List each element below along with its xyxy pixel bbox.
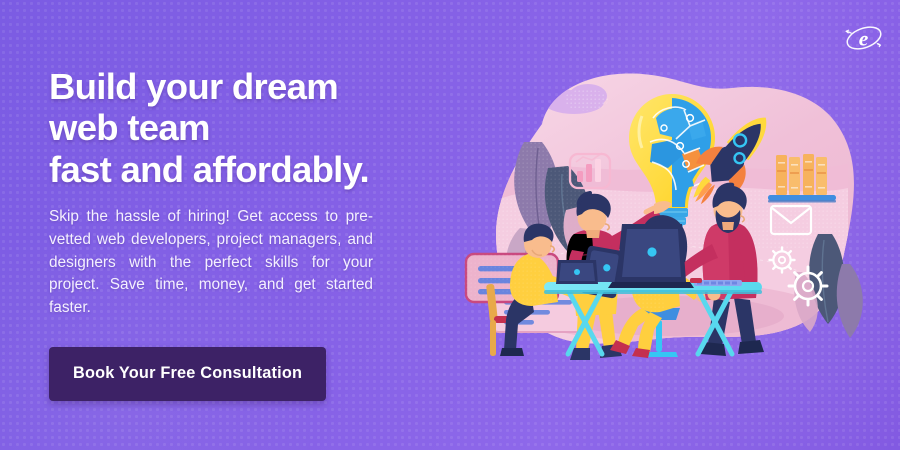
brand-logo-e-icon[interactable]: e: [844, 18, 884, 58]
book-consultation-button[interactable]: Book Your Free Consultation: [49, 347, 326, 401]
leaf-muted-purple-right: [837, 264, 863, 338]
hero-subcopy: Skip the hassle of hiring! Get access to…: [49, 206, 373, 320]
team-collaboration-illustration: [446, 58, 892, 370]
hero-banner: e Build your dream web team fast and aff…: [0, 0, 900, 450]
page-title: Build your dream web team fast and affor…: [49, 66, 394, 190]
svg-text:e: e: [859, 27, 869, 51]
laptop-small-left: [556, 260, 598, 284]
hero-content: Build your dream web team fast and affor…: [49, 66, 394, 401]
